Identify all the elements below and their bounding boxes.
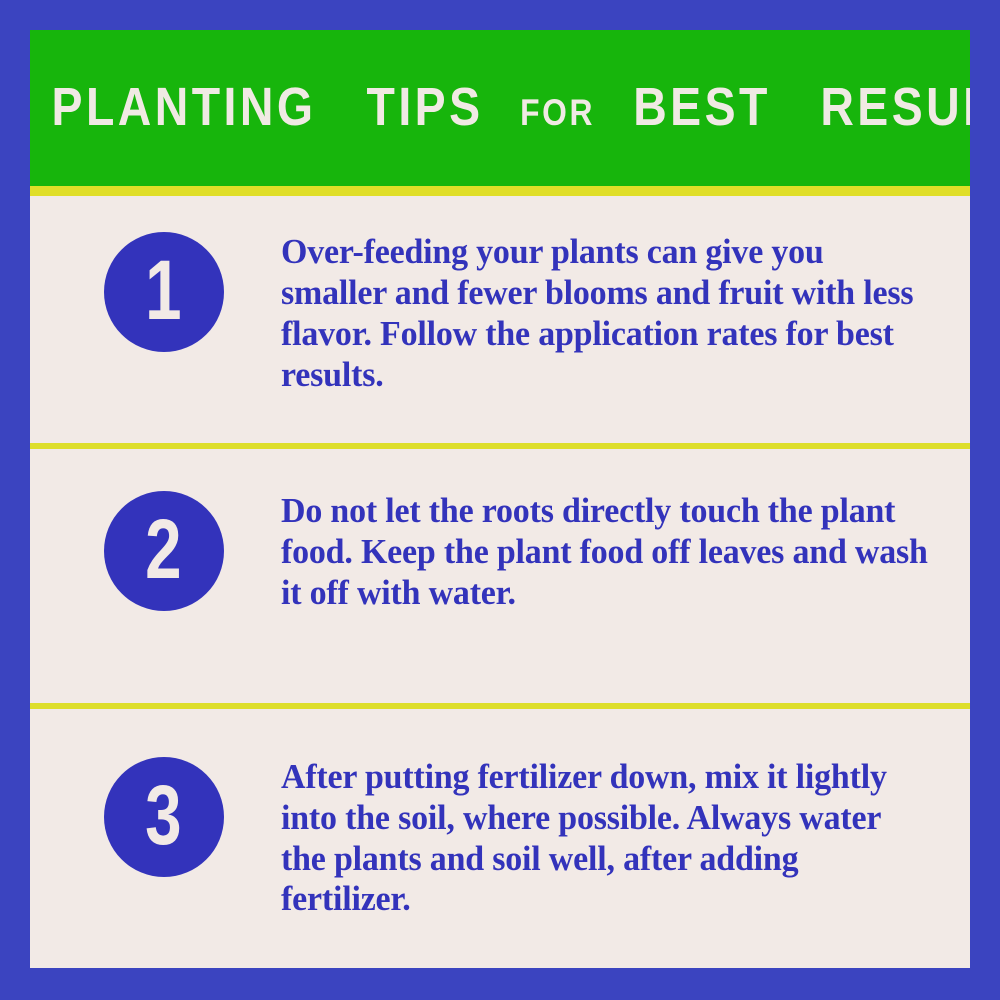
tip-number-label-2: 2	[145, 507, 181, 591]
tip-number-badge-1: 1	[104, 232, 224, 352]
tip-item-3: 3 After putting fertilizer down, mix it …	[30, 709, 970, 968]
title-word-planting: PLANTING	[52, 80, 317, 134]
tip-text-3: After putting fertilizer down, mix it li…	[281, 757, 949, 921]
tip-badge-cell-1: 1	[30, 232, 281, 352]
title-word-best: BEST	[633, 80, 771, 134]
tip-number-label-3: 3	[145, 773, 181, 857]
tips-list: 1 Over-feeding your plants can give you …	[30, 196, 970, 968]
title-word-for: FOR	[518, 94, 596, 131]
tip-number-label-1: 1	[145, 248, 181, 332]
header-yellow-rule	[30, 186, 970, 196]
tip-number-badge-3: 3	[104, 757, 224, 877]
tip-badge-cell-3: 3	[30, 757, 281, 877]
tip-item-2: 2 Do not let the roots directly touch th…	[30, 449, 970, 702]
tip-text-2: Do not let the roots directly touch the …	[281, 491, 949, 614]
tips-card: PLANTING TIPS FOR BEST RESULTS 1 Over-fe…	[30, 30, 970, 968]
tip-text-1: Over-feeding your plants can give you sm…	[281, 232, 949, 396]
title-word-results: RESULTS	[821, 80, 970, 134]
page-title: PLANTING TIPS FOR BEST RESULTS	[30, 80, 970, 134]
title-word-tips: TIPS	[367, 80, 484, 134]
tip-number-badge-2: 2	[104, 491, 224, 611]
tip-item-1: 1 Over-feeding your plants can give you …	[30, 196, 970, 443]
tip-badge-cell-2: 2	[30, 491, 281, 611]
poster-root: PLANTING TIPS FOR BEST RESULTS 1 Over-fe…	[0, 0, 1000, 1000]
header-band: PLANTING TIPS FOR BEST RESULTS	[30, 30, 970, 186]
